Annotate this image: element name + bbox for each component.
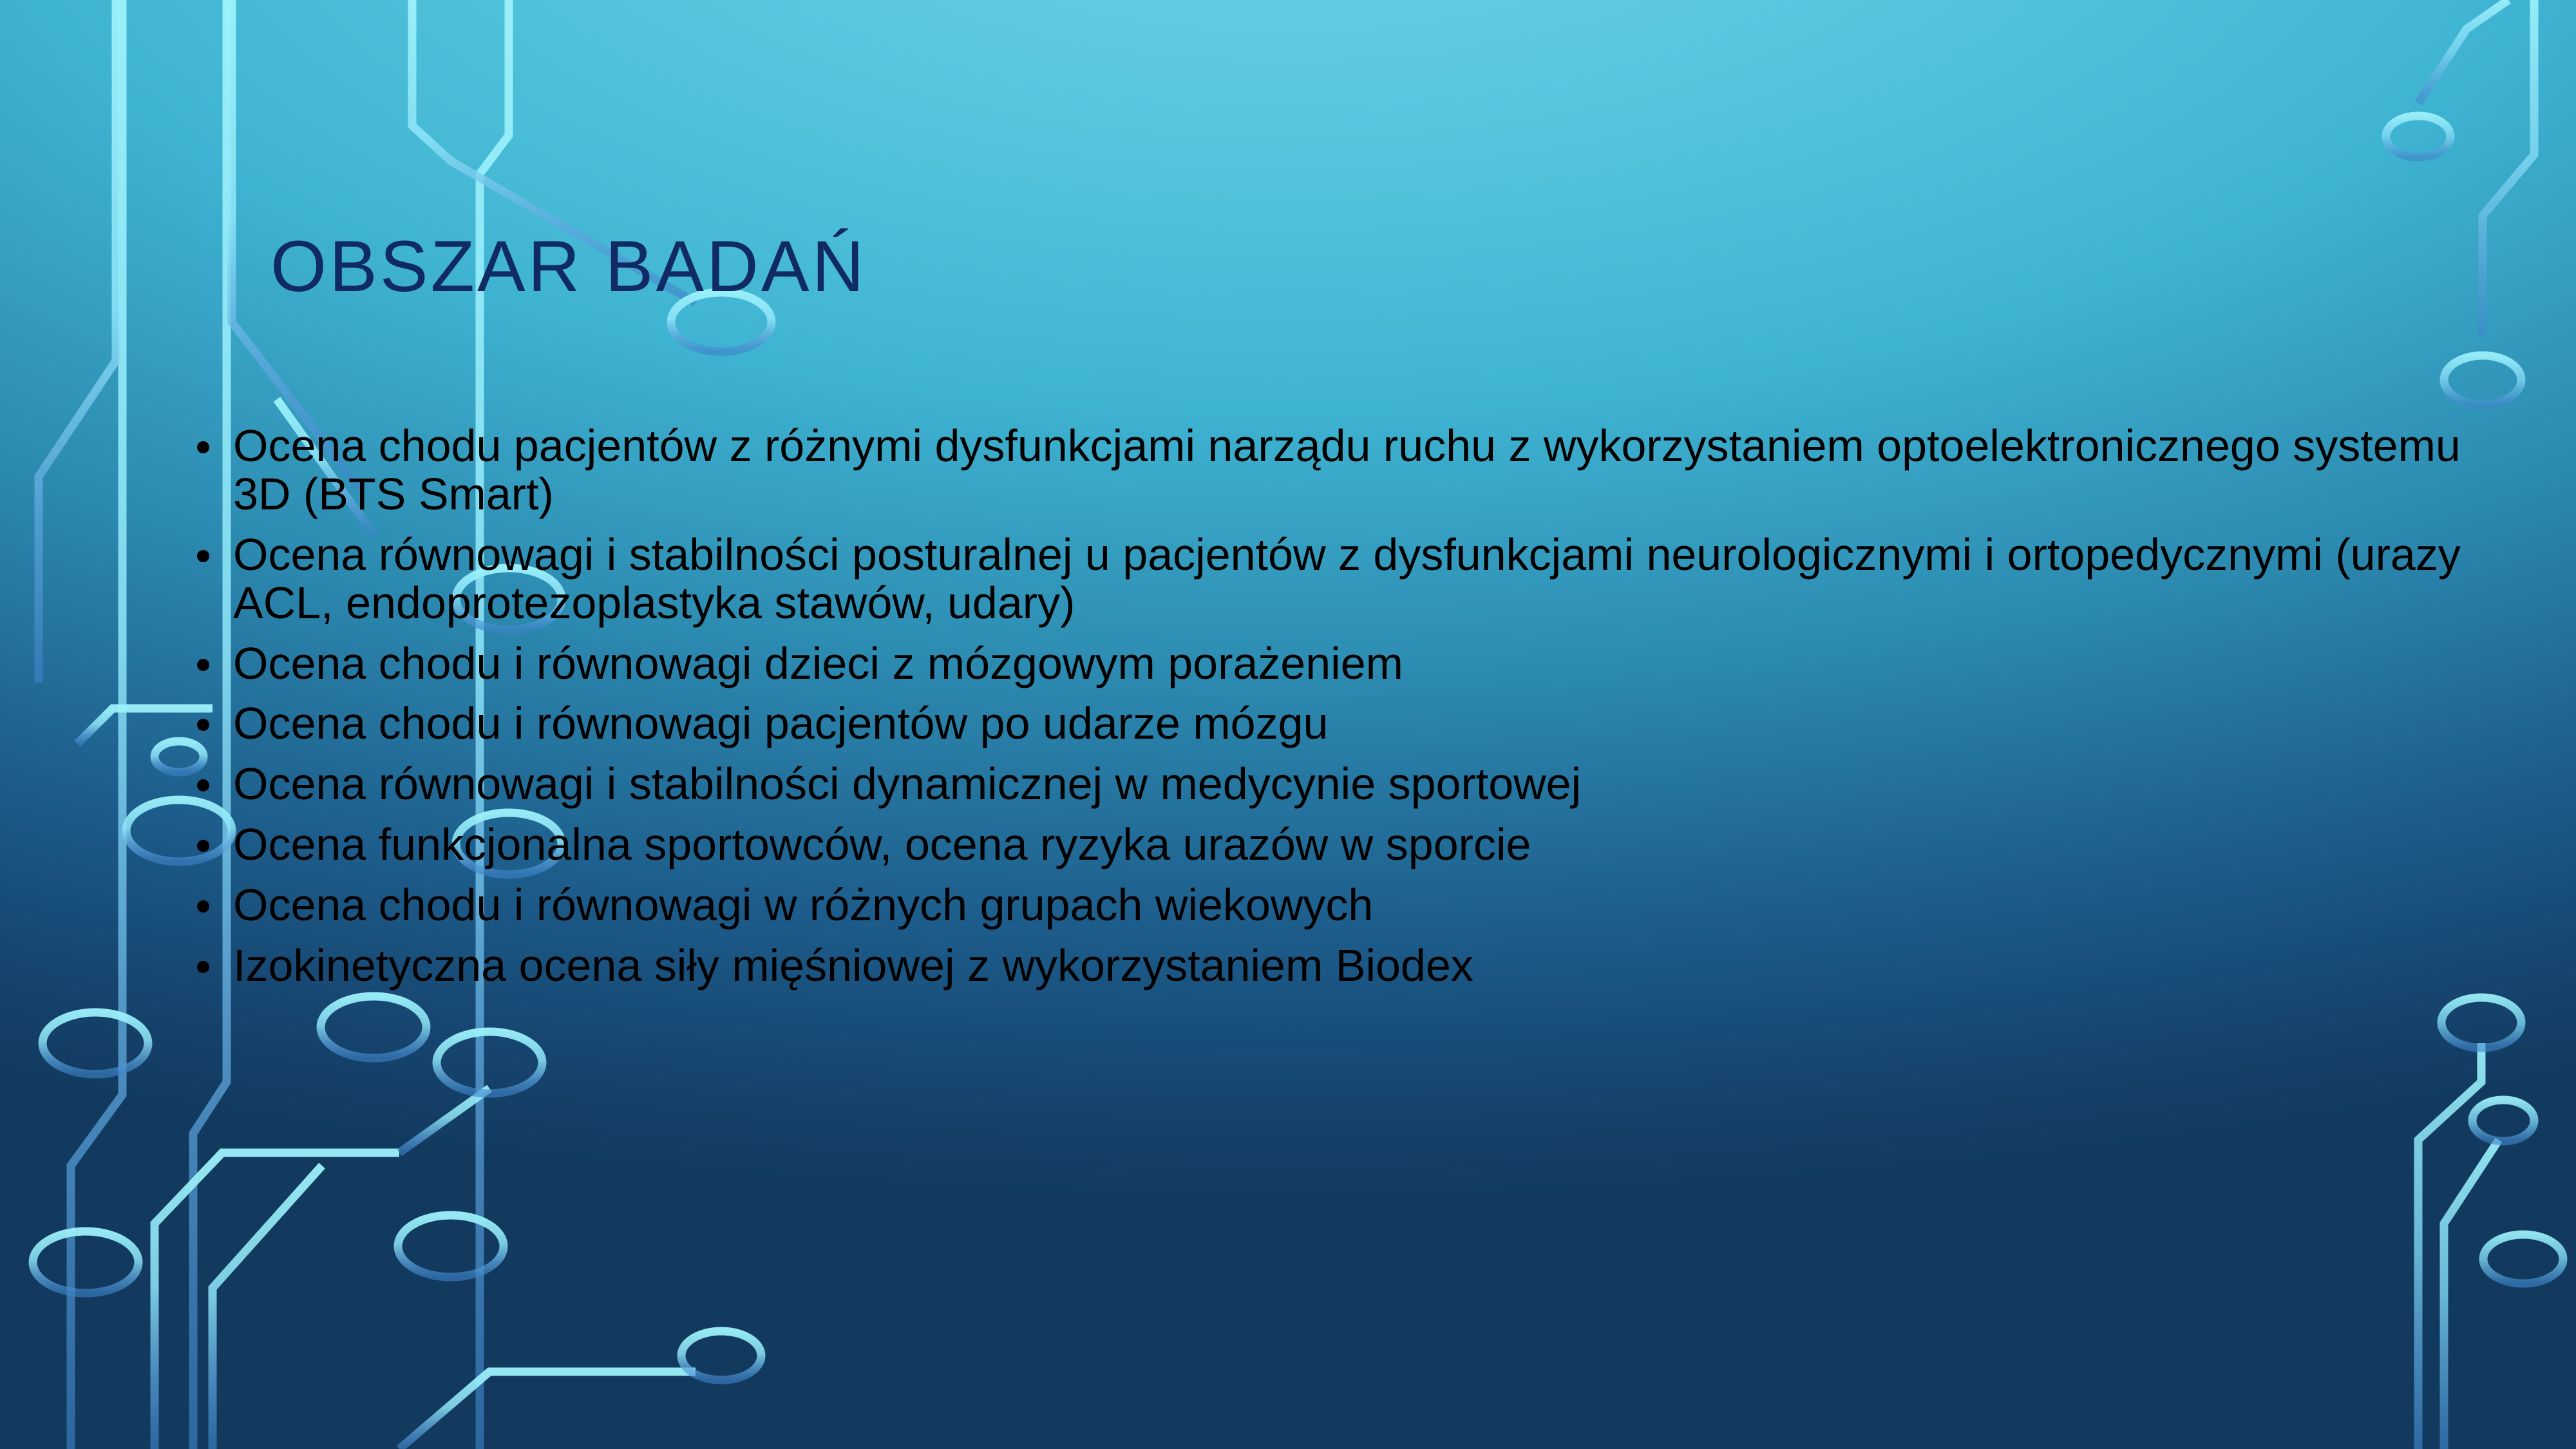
bullet-dot-icon xyxy=(197,550,209,562)
bullet-text: Ocena chodu i równowagi pacjentów po uda… xyxy=(233,699,2512,748)
bullet-text: Ocena funkcjonalna sportowców, ocena ryz… xyxy=(233,820,2512,869)
bullet-text: Ocena równowagi i stabilności posturalne… xyxy=(233,531,2512,627)
bullet-text: Ocena równowagi i stabilności dynamiczne… xyxy=(233,760,2512,808)
list-item: Ocena chodu pacjentów z różnymi dysfunkc… xyxy=(193,422,2512,518)
list-item: Ocena chodu i równowagi w różnych grupac… xyxy=(193,881,2512,929)
slide-title: OBSZAR BADAŃ xyxy=(270,231,867,303)
list-item: Ocena równowagi i stabilności posturalne… xyxy=(193,531,2512,627)
presentation-slide: OBSZAR BADAŃ Ocena chodu pacjentów z róż… xyxy=(0,0,2576,1449)
list-item: Ocena równowagi i stabilności dynamiczne… xyxy=(193,760,2512,808)
bullet-text: Ocena chodu i równowagi w różnych grupac… xyxy=(233,881,2512,929)
list-item: Ocena funkcjonalna sportowców, ocena ryz… xyxy=(193,820,2512,869)
bullet-dot-icon xyxy=(197,961,209,973)
bullet-text: Ocena chodu i równowagi dzieci z mózgowy… xyxy=(233,639,2512,688)
bullet-list: Ocena chodu pacjentów z różnymi dysfunkc… xyxy=(193,422,2512,1002)
bullet-dot-icon xyxy=(197,840,209,852)
list-item: Izokinetyczna ocena siły mięśniowej z wy… xyxy=(193,942,2512,990)
bullet-dot-icon xyxy=(197,719,209,731)
bullet-text: Izokinetyczna ocena siły mięśniowej z wy… xyxy=(233,942,2512,990)
bullet-dot-icon xyxy=(197,779,209,791)
bullet-dot-icon xyxy=(197,659,209,671)
bullet-dot-icon xyxy=(197,441,209,453)
bullet-dot-icon xyxy=(197,900,209,913)
list-item: Ocena chodu i równowagi dzieci z mózgowy… xyxy=(193,639,2512,688)
list-item: Ocena chodu i równowagi pacjentów po uda… xyxy=(193,699,2512,748)
bullet-text: Ocena chodu pacjentów z różnymi dysfunkc… xyxy=(233,422,2512,518)
